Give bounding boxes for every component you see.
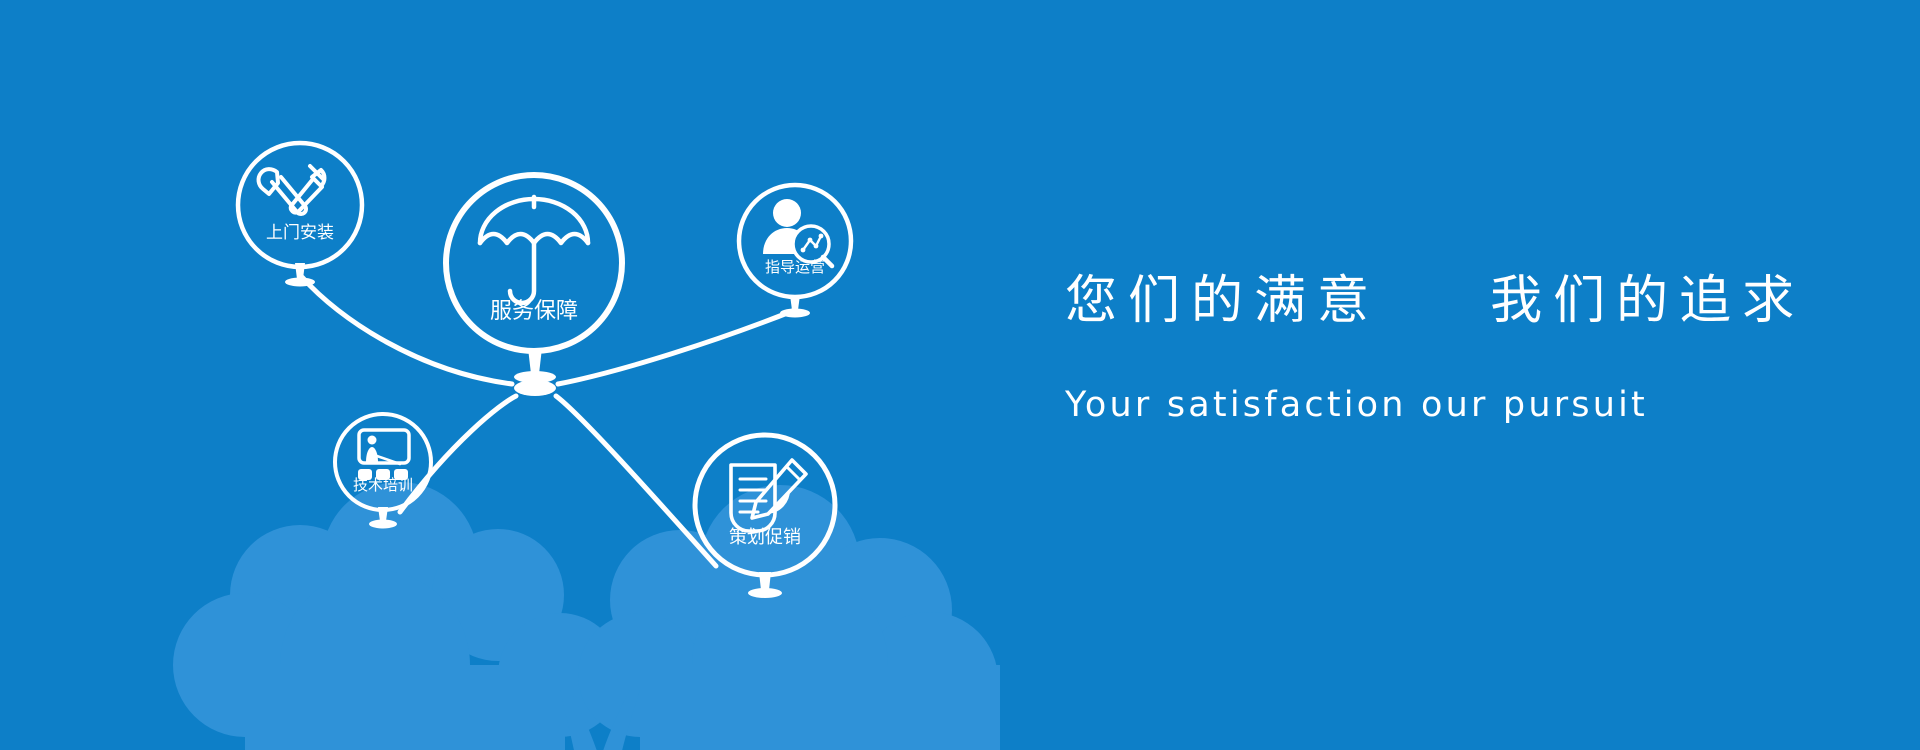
bubble-label-technical-training: 技术培训 — [353, 476, 413, 494]
connector-marketing — [556, 396, 716, 566]
connector-operations — [558, 310, 795, 384]
bubble-technical-training[interactable]: 技术培训 — [335, 414, 431, 529]
document-pencil-icon — [731, 460, 806, 531]
slogan-subhead: Your satisfaction our pursuit — [1065, 332, 1845, 426]
person-search-icon — [763, 199, 832, 266]
service-banner: 上门安装 服务保障 — [0, 0, 1920, 750]
bubble-marketing-planning[interactable]: 策划促销 — [695, 435, 835, 598]
bubble-service-guarantee[interactable]: 服务保障 — [446, 175, 622, 383]
slogan-block: 您们的满意 我们的追求 Your satisfaction our pursui… — [1065, 272, 1845, 426]
bubble-ring-install — [238, 143, 362, 267]
slogan-headline: 您们的满意 我们的追求 — [1065, 272, 1845, 332]
bubble-label-install: 上门安装 — [266, 223, 334, 243]
bubble-label-marketing-planning: 策划促销 — [729, 527, 801, 548]
hammer-wrench-icon — [259, 166, 325, 214]
bubble-label-operations-guidance: 指导运营 — [765, 258, 825, 276]
umbrella-icon — [480, 197, 588, 303]
training-board-icon — [358, 430, 409, 480]
bubble-install[interactable]: 上门安装 — [238, 143, 362, 287]
bubble-ring-marketing-planning — [695, 435, 835, 575]
bubble-operations-guidance[interactable]: 指导运营 — [739, 185, 851, 318]
bubble-label-service-guarantee: 服务保障 — [490, 299, 578, 324]
service-bubble-cluster: 上门安装 服务保障 — [0, 0, 1060, 750]
